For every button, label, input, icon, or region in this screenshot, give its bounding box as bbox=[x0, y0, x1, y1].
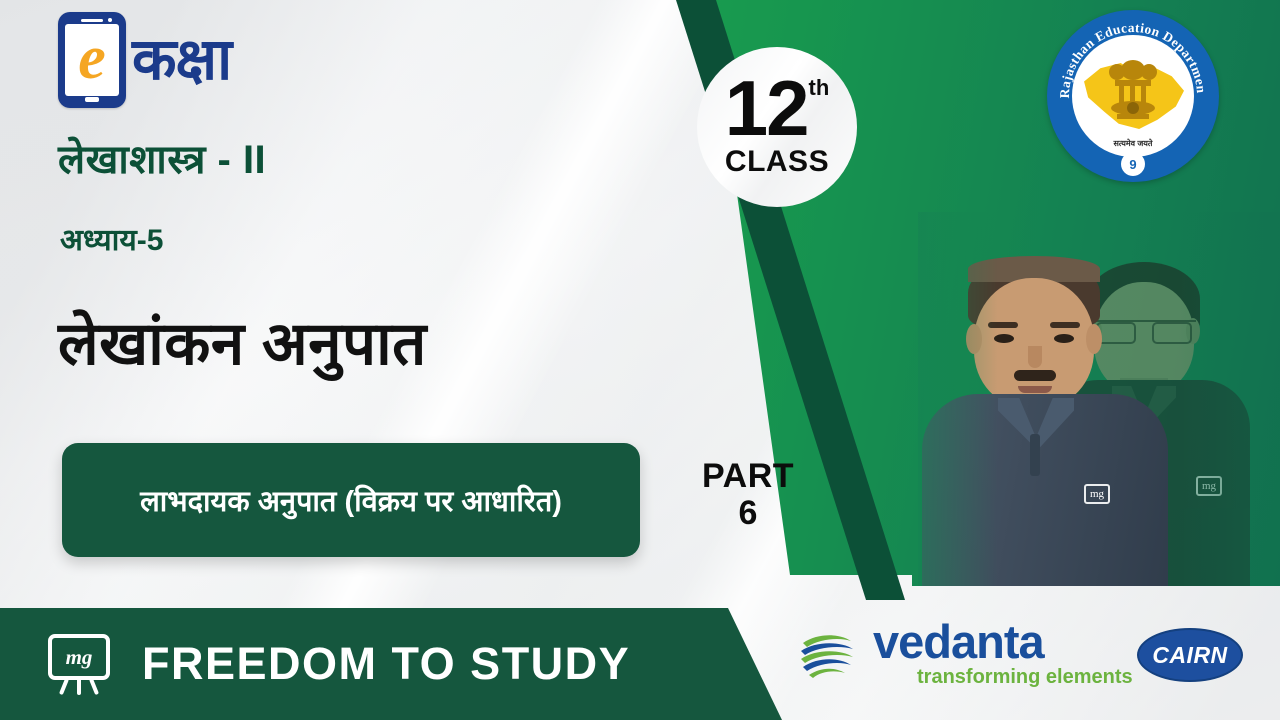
slide-root: e कक्षा लेखाशास्त्र - II अध्याय-5 लेखांक… bbox=[0, 0, 1280, 720]
vedanta-logo: vedanta transforming elements bbox=[795, 618, 1133, 687]
footer-tagline: FREEDOM TO STUDY bbox=[142, 638, 630, 690]
front-eye-left bbox=[994, 334, 1014, 343]
chapter-label: अध्याय-5 bbox=[60, 218, 163, 259]
ashoka-lion-capital-icon bbox=[1103, 54, 1163, 134]
subject-title: लेखाशास्त्र - II bbox=[58, 130, 266, 185]
phone-speaker bbox=[81, 19, 103, 22]
mg-monogram: mg bbox=[52, 638, 106, 676]
part-number: 6 bbox=[688, 495, 808, 532]
topic-text: लाभदायक अनुपात (विक्रय पर आधारित) bbox=[140, 481, 562, 520]
vedanta-tagline: transforming elements bbox=[917, 667, 1133, 687]
smartphone-icon: e bbox=[58, 12, 126, 108]
logo-letter-e: e bbox=[78, 27, 106, 89]
phone-screen: e bbox=[65, 24, 119, 96]
class-number: 12 bbox=[725, 75, 808, 142]
instructors-photo: mg mg bbox=[918, 212, 1280, 586]
front-ear-right bbox=[1086, 324, 1102, 354]
rajasthan-education-department-seal: Rajasthan Education Department bbox=[1047, 10, 1219, 182]
cairn-name: CAIRN bbox=[1152, 642, 1227, 669]
page-title: लेखांकन अनुपात bbox=[58, 300, 427, 382]
seal-inner-disc: सत्यमेव जयते bbox=[1072, 35, 1194, 157]
part-label: PART bbox=[688, 458, 808, 495]
class-word: CLASS bbox=[725, 145, 829, 179]
part-indicator: PART 6 bbox=[688, 458, 808, 531]
class-number-row: 12 th bbox=[725, 75, 830, 142]
class-ordinal-suffix: th bbox=[809, 79, 830, 98]
front-nose bbox=[1028, 346, 1042, 368]
front-moustache bbox=[1014, 370, 1056, 381]
front-ear-left bbox=[966, 324, 982, 354]
footer-bar: mg FREEDOM TO STUDY bbox=[0, 608, 860, 720]
phone-home-button bbox=[85, 97, 99, 102]
back-shirt-mg-logo: mg bbox=[1196, 476, 1222, 496]
mg-chalkboard-icon: mg bbox=[42, 634, 116, 694]
vedanta-text: vedanta transforming elements bbox=[873, 618, 1133, 687]
front-brow-right bbox=[1050, 322, 1080, 328]
mg-easel-leg-left bbox=[59, 678, 69, 695]
ekaksha-logo: e कक्षा bbox=[58, 12, 231, 108]
logo-wordmark: कक्षा bbox=[132, 31, 231, 89]
seal-motto: सत्यमेव जयते bbox=[1072, 138, 1194, 149]
instructor-front: mg bbox=[922, 250, 1168, 586]
cairn-logo: CAIRN bbox=[1137, 628, 1243, 682]
topic-banner: लाभदायक अनुपात (विक्रय पर आधारित) bbox=[62, 443, 640, 557]
phone-camera bbox=[108, 18, 112, 22]
front-torso: mg bbox=[922, 394, 1168, 586]
class-badge: 12 th CLASS bbox=[697, 47, 857, 207]
mg-easel-leg-right bbox=[89, 678, 99, 695]
vedanta-globe-icon bbox=[795, 621, 859, 685]
mg-easel-leg-center bbox=[77, 678, 81, 695]
front-mouth bbox=[1018, 386, 1052, 393]
mg-board: mg bbox=[48, 634, 110, 680]
front-shirt-mg-logo: mg bbox=[1084, 484, 1110, 504]
front-placket bbox=[1030, 434, 1040, 476]
vedanta-name: vedanta bbox=[873, 618, 1133, 665]
seal-rajasthan-mark: 9 bbox=[1121, 152, 1145, 176]
front-eye-right bbox=[1054, 334, 1074, 343]
front-brow-left bbox=[988, 322, 1018, 328]
